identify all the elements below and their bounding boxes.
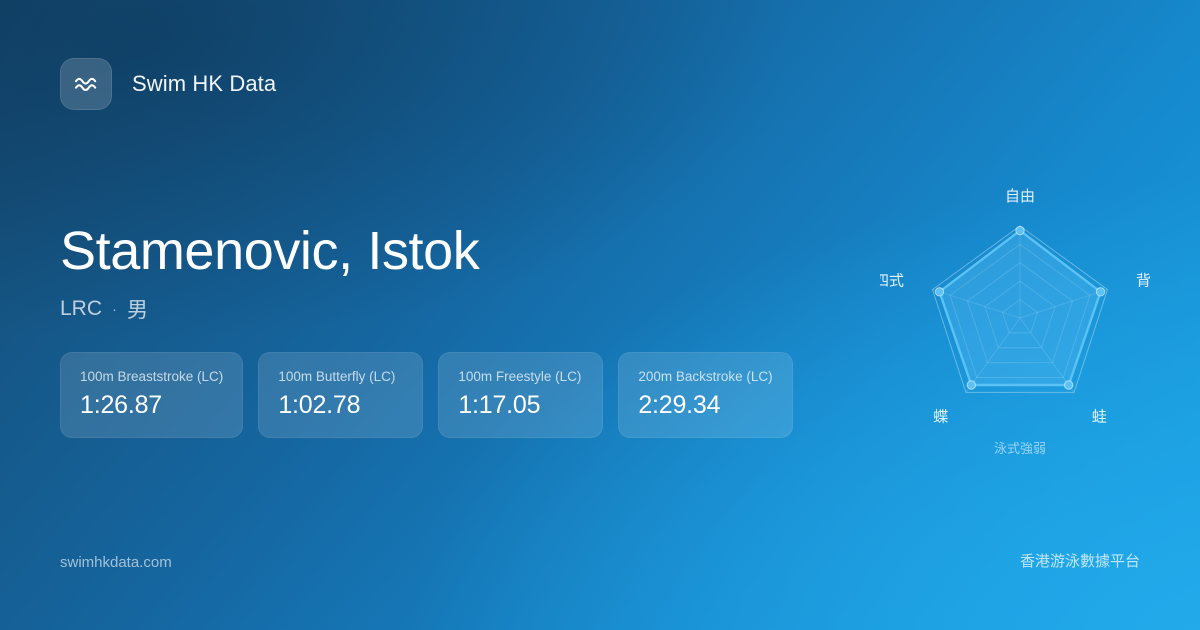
stat-card-value: 1:26.87: [80, 391, 223, 420]
stat-card[interactable]: 100m Breaststroke (LC) 1:26.87: [60, 352, 243, 438]
footer-site[interactable]: swimhkdata.com: [60, 554, 172, 571]
radar-caption: 泳式強弱: [880, 438, 1160, 457]
svg-text:四式: 四式: [880, 272, 904, 289]
stat-card[interactable]: 200m Backstroke (LC) 2:29.34: [618, 352, 792, 438]
footer-tagline: 香港游泳數據平台: [1020, 550, 1140, 571]
page-title: Stamenovic, Istok: [60, 222, 479, 280]
stat-card-list: 100m Breaststroke (LC) 1:26.87 100m Butt…: [60, 352, 793, 438]
stat-card-label: 200m Backstroke (LC): [638, 369, 772, 384]
svg-text:蝶: 蝶: [933, 409, 948, 426]
gender-label: 男: [127, 294, 148, 324]
svg-text:背: 背: [1136, 272, 1151, 289]
stat-card-label: 100m Breaststroke (LC): [80, 369, 223, 384]
stat-card-value: 1:02.78: [278, 391, 403, 420]
meta-separator: ·: [112, 301, 117, 318]
hero-block: Stamenovic, Istok LRC · 男: [60, 222, 479, 324]
brand-header[interactable]: Swim HK Data: [60, 58, 276, 110]
stat-card-value: 2:29.34: [638, 391, 772, 420]
club-label: LRC: [60, 297, 102, 321]
social-card: Swim HK Data Stamenovic, Istok LRC · 男 1…: [0, 0, 1200, 630]
stat-card-label: 100m Freestyle (LC): [458, 369, 583, 384]
wave-icon: [60, 58, 112, 110]
stat-card-label: 100m Butterfly (LC): [278, 369, 403, 384]
radar-chart: 自由背蛙蝶四式 泳式強弱: [880, 168, 1160, 473]
stat-card[interactable]: 100m Butterfly (LC) 1:02.78: [258, 352, 423, 438]
radar-series-area: [940, 231, 1101, 385]
svg-text:蛙: 蛙: [1092, 409, 1107, 426]
svg-text:自由: 自由: [1005, 188, 1035, 205]
stat-card[interactable]: 100m Freestyle (LC) 1:17.05: [438, 352, 603, 438]
stat-card-value: 1:17.05: [458, 391, 583, 420]
radar-chart-svg: 自由背蛙蝶四式: [880, 168, 1160, 428]
athlete-meta: LRC · 男: [60, 294, 479, 324]
brand-name: Swim HK Data: [132, 71, 276, 97]
